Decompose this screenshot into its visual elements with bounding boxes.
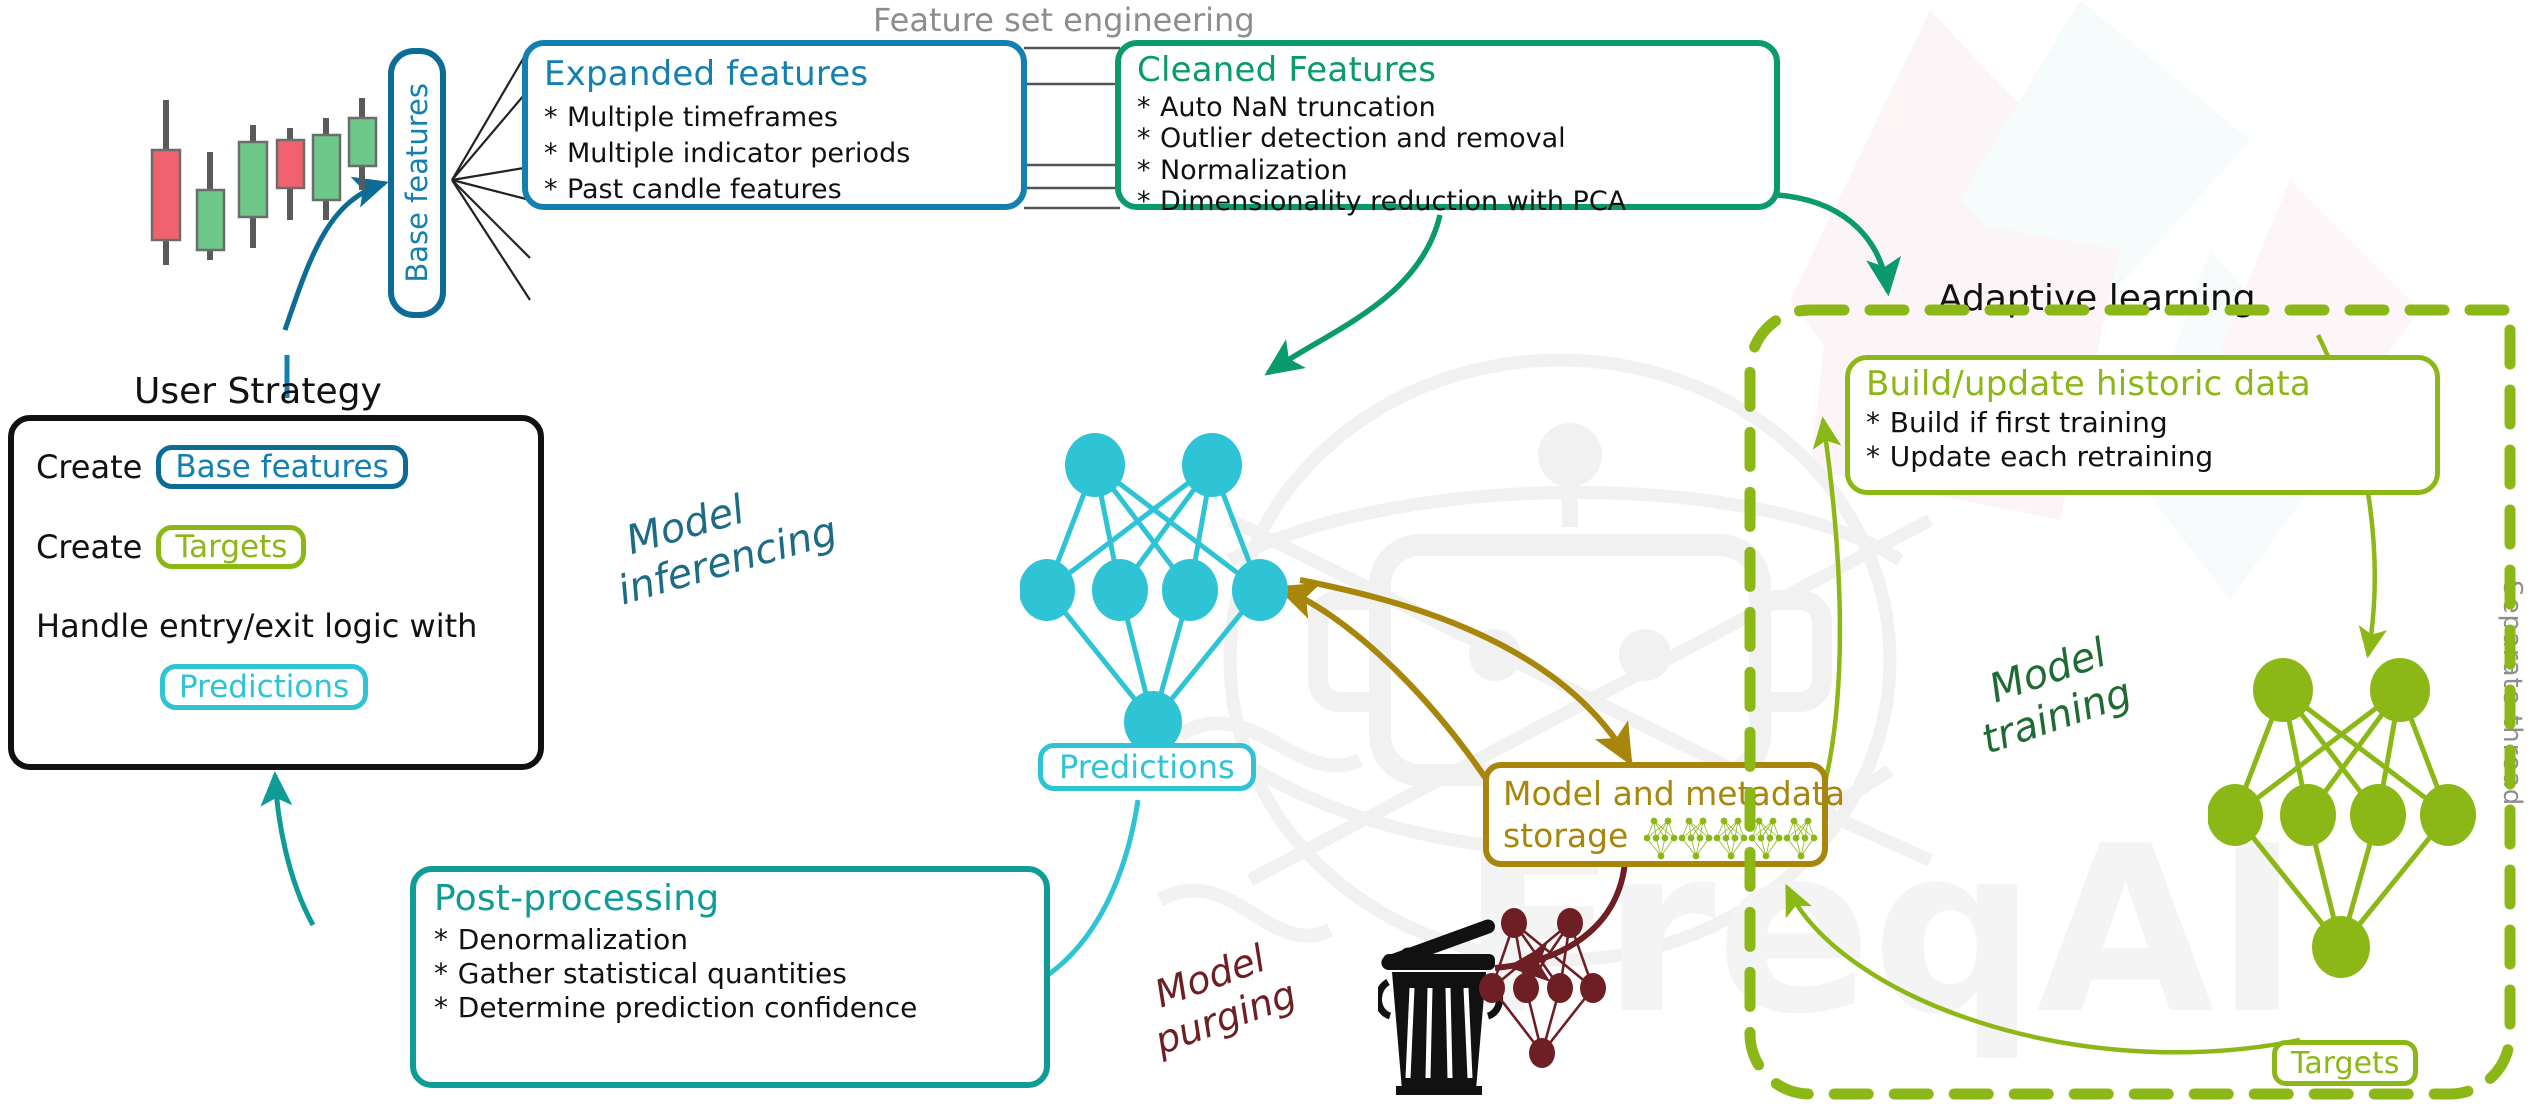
- user-strategy-row: Create Targets: [36, 525, 306, 569]
- base-features-chip-label: Base features: [400, 83, 434, 283]
- cleaned-features-bullet: Auto NaN truncation: [1137, 92, 1774, 123]
- feature-set-engineering-title: Feature set engineering: [873, 1, 1255, 39]
- arrow-cleaned-to-adaptive: [1778, 195, 1888, 292]
- expanded-features-bullet: Multiple indicator periods: [544, 136, 1021, 172]
- expanded-features-box[interactable]: Expanded features Multiple timeframes Mu…: [522, 40, 1027, 210]
- predictions-chip-wrapper: Predictions: [160, 664, 368, 710]
- predictions-chip-label: Predictions: [1059, 748, 1235, 786]
- cleaned-features-bullets: Auto NaN truncation Outlier detection an…: [1137, 92, 1774, 217]
- arrow-postprocessing-to-strategy: [275, 775, 313, 925]
- build-update-bullet: Build if first training: [1866, 406, 2435, 440]
- ladder-expanded-to-cleaned: [1024, 48, 1120, 208]
- base-features-chip-vertical[interactable]: Base features: [388, 48, 446, 318]
- fan-base-to-expanded: [452, 47, 530, 300]
- user-strategy-box[interactable]: Create Base features Create Targets Hand…: [8, 415, 544, 770]
- targets-chip-label: Targets: [2291, 1046, 2399, 1081]
- candlestick-chart: [140, 80, 380, 310]
- cleaned-features-title: Cleaned Features: [1137, 50, 1774, 90]
- post-processing-title: Post-processing: [434, 878, 1044, 919]
- predictions-chip-label: Predictions: [179, 669, 349, 705]
- build-update-box[interactable]: Build/update historic data Build if firs…: [1845, 355, 2440, 495]
- post-processing-box[interactable]: Post-processing Denormalization Gather s…: [410, 866, 1050, 1088]
- arrow-cleaned-to-inference: [1268, 215, 1440, 373]
- build-update-bullets: Build if first training Update each retr…: [1866, 406, 2435, 473]
- post-processing-bullets: Denormalization Gather statistical quant…: [434, 923, 1044, 1025]
- cleaned-features-bullet: Dimensionality reduction with PCA: [1137, 186, 1774, 217]
- model-storage-line2: storage: [1503, 816, 1628, 855]
- training-neural-network: [2208, 650, 2478, 990]
- user-strategy-row: Create Base features: [36, 445, 408, 489]
- expanded-features-bullet: Past candle features: [544, 172, 1021, 208]
- expanded-features-title: Expanded features: [544, 54, 1021, 94]
- base-features-chip-label: Base features: [175, 449, 388, 485]
- inference-neural-network: [1020, 425, 1290, 765]
- cleaned-features-box[interactable]: Cleaned Features Auto NaN truncation Out…: [1115, 40, 1780, 210]
- build-update-bullet: Update each retraining: [1866, 440, 2435, 474]
- handle-logic-label: Handle entry/exit logic with: [36, 607, 477, 645]
- targets-chip-label: Targets: [175, 529, 287, 565]
- purged-neural-network: [1478, 905, 1608, 1075]
- targets-chip[interactable]: Targets: [156, 525, 306, 569]
- user-strategy-title: User Strategy: [134, 371, 382, 412]
- diagram-canvas: FreqAI FreqAI: [0, 0, 2539, 1104]
- arrow-adaptive-to-storage: [1300, 580, 1630, 762]
- expanded-features-bullets: Multiple timeframes Multiple indicator p…: [544, 100, 1021, 208]
- post-processing-bullet: Denormalization: [434, 923, 1044, 957]
- targets-chip-training[interactable]: Targets: [2272, 1040, 2418, 1086]
- user-strategy-row: Handle entry/exit logic with: [36, 607, 477, 645]
- base-features-chip[interactable]: Base features: [156, 445, 407, 489]
- expanded-features-bullet: Multiple timeframes: [544, 100, 1021, 136]
- cleaned-features-bullet: Outlier detection and removal: [1137, 123, 1774, 154]
- create-label: Create: [36, 448, 142, 486]
- build-update-title: Build/update historic data: [1866, 364, 2435, 404]
- arrow-storage-to-inference: [1280, 588, 1500, 800]
- post-processing-bullet: Determine prediction confidence: [434, 991, 1044, 1025]
- predictions-chip[interactable]: Predictions: [160, 664, 368, 710]
- create-label: Create: [36, 528, 142, 566]
- predictions-chip-inference[interactable]: Predictions: [1038, 743, 1256, 791]
- cleaned-features-bullet: Normalization: [1137, 155, 1774, 186]
- post-processing-bullet: Gather statistical quantities: [434, 957, 1044, 991]
